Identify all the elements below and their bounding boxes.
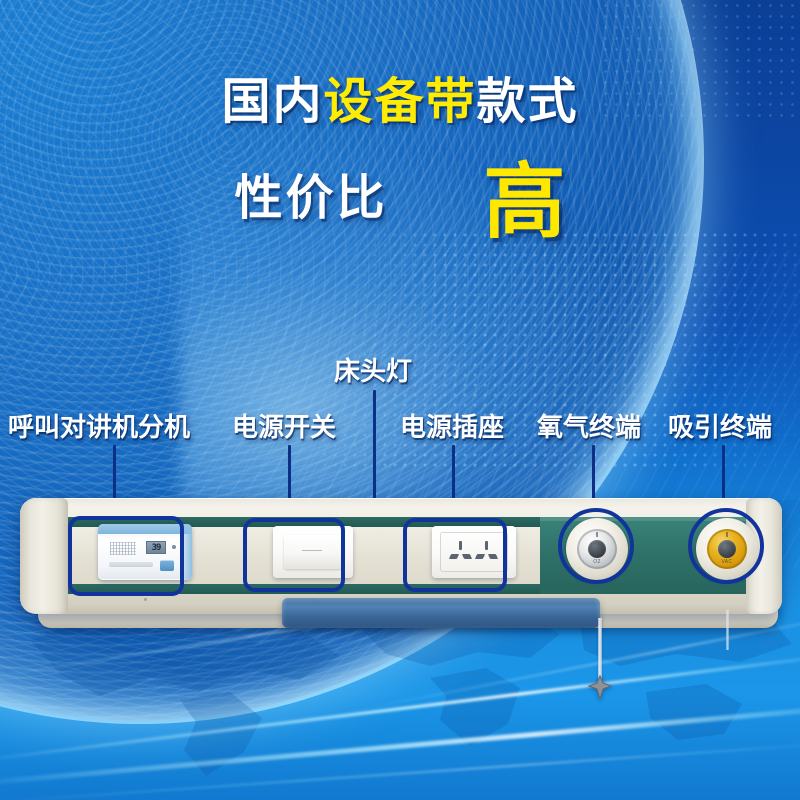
- speaker-grille-icon: [110, 542, 136, 555]
- intercom-unit[interactable]: 39: [98, 524, 192, 580]
- socket-outlet-2[interactable]: [474, 541, 500, 565]
- callout-label-power-switch: 电源开关: [232, 414, 336, 440]
- socket-pin-left-icon: [475, 554, 485, 559]
- promo-banner: 国内设备带款式 性价比 高 呼叫对讲机分机 电源开关 床头灯 电源插座 氧气终端…: [0, 0, 800, 800]
- alignment-tick-icon: [596, 532, 598, 537]
- panel-body: 39: [20, 498, 782, 614]
- suction-terminal-ring: VAC: [707, 529, 747, 569]
- callout-label-intercom: 呼叫对讲机分机: [8, 414, 190, 440]
- intercom-call-button[interactable]: [160, 560, 174, 571]
- power-switch-rocker[interactable]: [284, 535, 342, 569]
- socket-pin-earth-icon: [459, 541, 462, 550]
- panel-handrail: [282, 598, 600, 628]
- socket-outlet-1[interactable]: [448, 541, 474, 565]
- suction-hose: [726, 610, 729, 650]
- indicator-led-icon: [172, 545, 176, 549]
- power-switch-plate[interactable]: [273, 526, 353, 578]
- rocker-marking: [302, 550, 322, 551]
- suction-terminal-port[interactable]: [718, 540, 736, 558]
- suction-terminal[interactable]: VAC: [696, 518, 758, 580]
- oxygen-hose: [598, 618, 602, 680]
- intercom-side-trim: [184, 524, 192, 580]
- intercom-display: 39: [146, 541, 166, 554]
- callout-label-power-socket: 电源插座: [400, 414, 504, 440]
- socket-pin-earth-icon: [485, 541, 488, 550]
- oxygen-terminal-port[interactable]: [588, 540, 606, 558]
- socket-face: [440, 532, 508, 572]
- intercom-slot: [109, 562, 153, 567]
- oxygen-terminal[interactable]: O2: [566, 518, 628, 580]
- socket-pin-right-icon: [488, 554, 498, 559]
- socket-pin-left-icon: [449, 554, 459, 559]
- suction-terminal-marking: VAC: [721, 559, 732, 565]
- bed-head-unit-panel: 39: [20, 498, 782, 638]
- alignment-tick-icon: [726, 532, 728, 537]
- oxygen-terminal-ring: O2: [577, 529, 617, 569]
- oxygen-terminal-marking: O2: [593, 559, 600, 565]
- callout-label-oxygen: 氧气终端: [537, 414, 641, 440]
- intercom-top-trim: [98, 524, 192, 534]
- socket-pin-right-icon: [462, 554, 472, 559]
- callout-label-suction: 吸引终端: [668, 414, 772, 440]
- hose-connector-icon: [584, 672, 616, 704]
- power-socket-plate[interactable]: [432, 526, 516, 578]
- panel-screw: [144, 598, 147, 601]
- panel-endcap-left: [20, 498, 68, 614]
- callout-label-bed-lamp: 床头灯: [334, 358, 412, 384]
